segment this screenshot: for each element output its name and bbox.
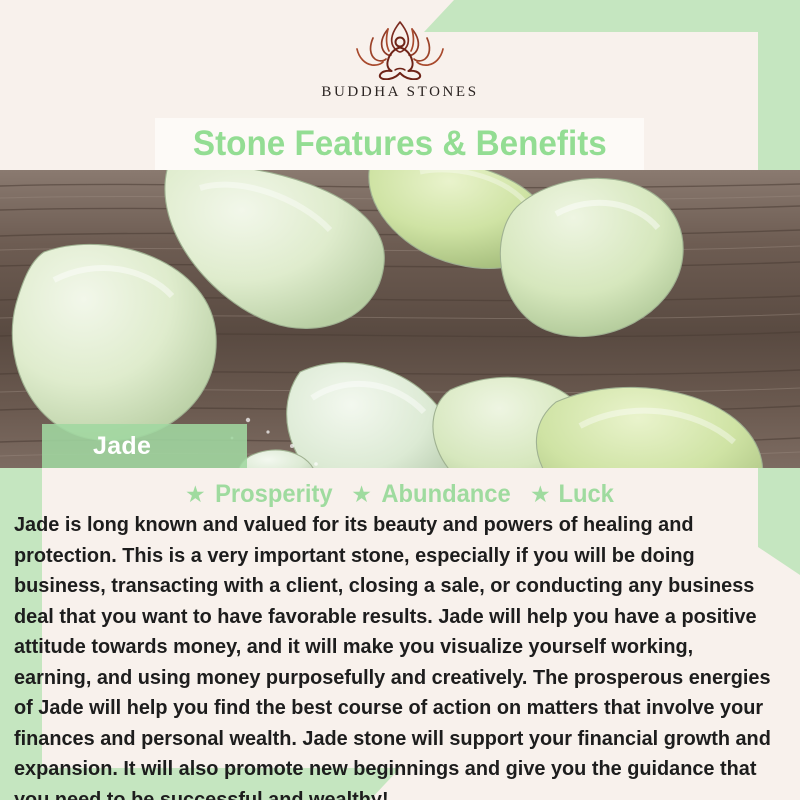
benefit-label: Luck — [558, 480, 613, 509]
page-title: Stone Features & Benefits — [193, 124, 607, 164]
product-info-card: BUDDHA STONES Stone Features & Benefits — [0, 0, 800, 800]
star-icon: ★ — [185, 483, 206, 506]
benefit-label: Abundance — [381, 480, 510, 509]
stone-name: Jade — [93, 432, 151, 461]
title-banner: Stone Features & Benefits — [155, 118, 644, 170]
benefits-row: ★ Prosperity ★ Abundance ★ Luck — [0, 478, 800, 510]
brand-name: BUDDHA STONES — [321, 84, 478, 101]
star-icon: ★ — [530, 483, 551, 506]
benefit-label: Prosperity — [215, 480, 332, 509]
brand-header: BUDDHA STONES — [0, 0, 800, 120]
benefit-item-prosperity: ★ Prosperity — [185, 480, 335, 509]
star-icon: ★ — [351, 483, 372, 506]
stone-name-band: Jade — [42, 424, 247, 468]
benefit-item-luck: ★ Luck — [530, 480, 615, 509]
lotus-meditation-icon — [340, 18, 460, 80]
benefit-item-abundance: ★ Abundance — [351, 480, 514, 509]
stone-description: Jade is long known and valued for its be… — [14, 510, 774, 800]
